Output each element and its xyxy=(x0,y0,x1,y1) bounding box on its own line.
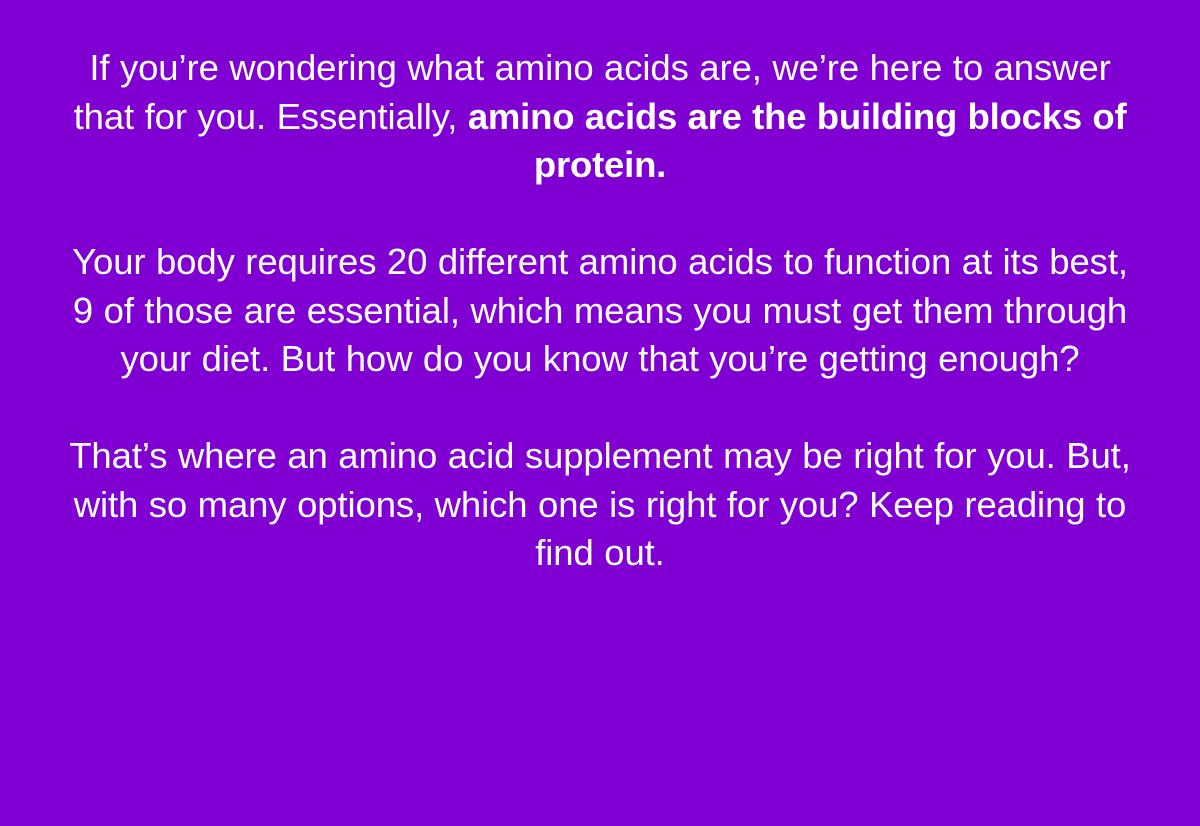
paragraph-requirement: Your body requires 20 different amino ac… xyxy=(65,238,1135,384)
informational-card: If you’re wondering what amino acids are… xyxy=(0,0,1200,826)
call-to-action-text: That’s where an amino acid supplement ma… xyxy=(69,435,1131,573)
intro-bold-emphasis: amino acids are the building blocks of p… xyxy=(468,96,1127,186)
requirement-text: Your body requires 20 different amino ac… xyxy=(72,241,1128,379)
copy-block: If you’re wondering what amino acids are… xyxy=(65,44,1135,578)
paragraph-intro: If you’re wondering what amino acids are… xyxy=(65,44,1135,190)
paragraph-call-to-action: That’s where an amino acid supplement ma… xyxy=(65,432,1135,578)
